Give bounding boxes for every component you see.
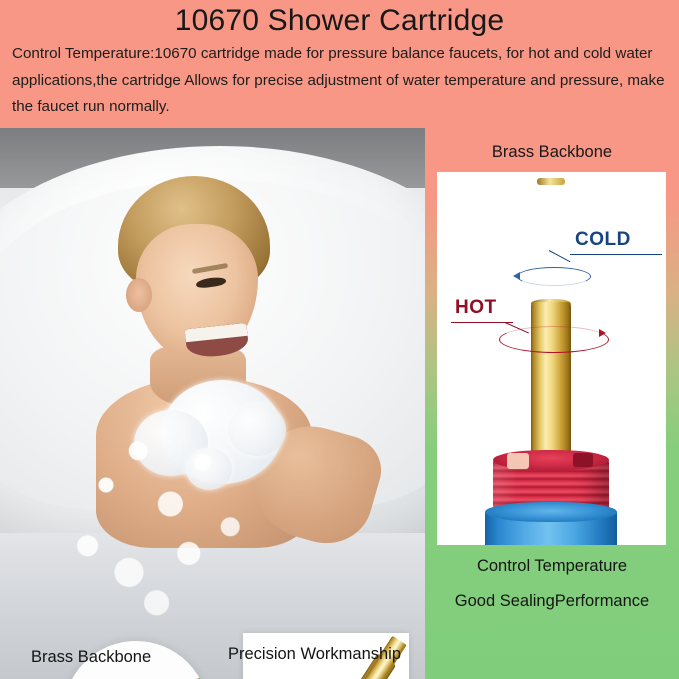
hot-label: HOT: [455, 297, 497, 319]
cold-arrowhead-icon: [513, 272, 520, 280]
brass-rod: [63, 673, 209, 679]
hot-rotation-arrow: [499, 326, 609, 353]
right-panel-title: Brass Backbone: [425, 143, 679, 162]
page-title: 10670 Shower Cartridge: [0, 2, 679, 40]
product-description: Control Temperature:10670 cartridge made…: [12, 41, 672, 121]
red-collar-notch-right: [573, 453, 593, 467]
hot-arrowhead-icon: [599, 329, 606, 337]
caption-precision-workmanship: Precision Workmanship: [228, 645, 401, 664]
red-collar-notch-left: [507, 453, 529, 469]
cold-underline: [570, 254, 662, 255]
caption-brass-backbone: Brass Backbone: [31, 648, 151, 667]
cold-rotation-arrow: [517, 267, 591, 286]
feature-good-sealing-performance: Good SealingPerformance: [425, 592, 679, 611]
child-ear: [126, 278, 152, 312]
cold-label: COLD: [575, 229, 631, 251]
feature-control-temperature: Control Temperature: [425, 557, 679, 576]
bathtub-child-photo: [0, 128, 425, 679]
cartridge-diagram-stage: COLD HOT: [437, 172, 666, 545]
water-splash: [60, 428, 290, 618]
product-infographic: 10670 Shower Cartridge Control Temperatu…: [0, 0, 679, 679]
brass-stem-upper: [537, 180, 565, 305]
blue-body-top-face: [485, 502, 617, 522]
